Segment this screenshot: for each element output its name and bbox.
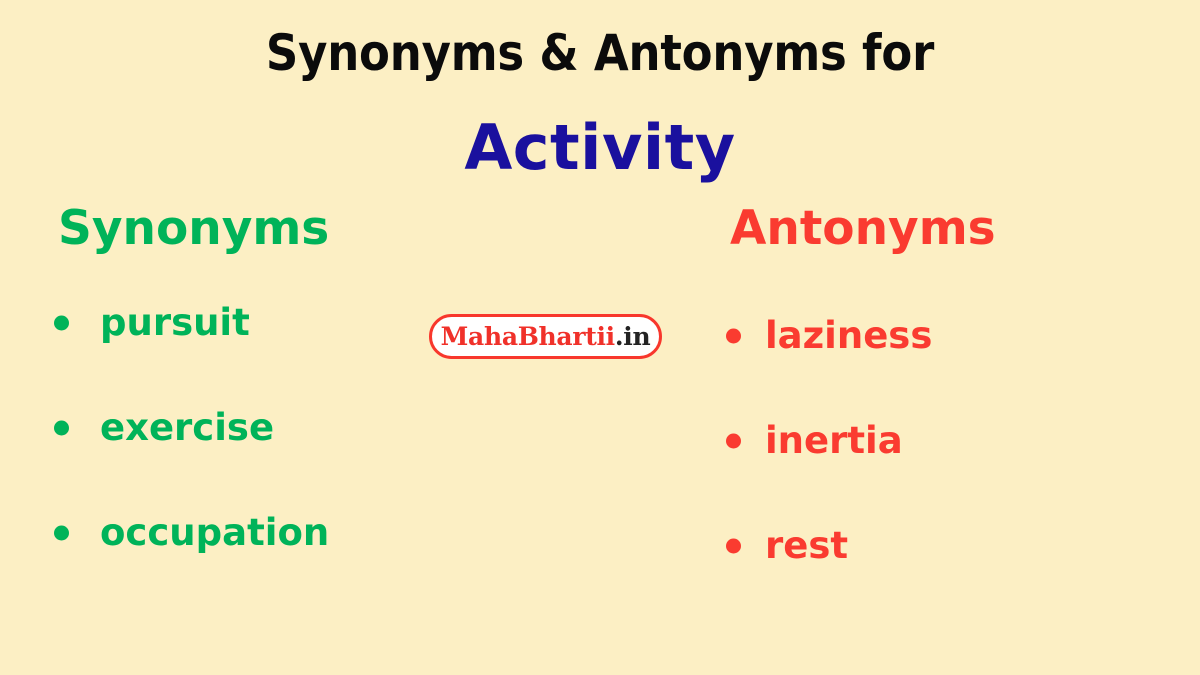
bullet-dot-icon xyxy=(726,433,741,448)
antonym-label: laziness xyxy=(765,317,932,354)
synonym-label: exercise xyxy=(100,409,274,446)
list-item: laziness xyxy=(726,305,1146,367)
list-item: exercise xyxy=(54,397,454,459)
headword-title: Activity xyxy=(0,114,1200,182)
antonym-label: inertia xyxy=(765,422,903,459)
list-item: occupation xyxy=(54,502,454,564)
synonym-label: pursuit xyxy=(100,304,250,341)
brand-wordmark: MahaBhartii.in xyxy=(441,324,651,349)
synonym-label: occupation xyxy=(100,514,329,551)
watermark-badge: MahaBhartii.in xyxy=(429,314,662,359)
list-item: pursuit xyxy=(54,292,454,354)
antonyms-heading: Antonyms xyxy=(730,203,1146,255)
brand-tld: .in xyxy=(615,322,650,351)
bullet-dot-icon xyxy=(54,315,69,330)
bullet-dot-icon xyxy=(726,328,741,343)
bullet-dot-icon xyxy=(726,538,741,553)
brand-name: MahaBhartii xyxy=(441,322,615,351)
synonyms-heading: Synonyms xyxy=(58,203,454,255)
page-title: Synonyms & Antonyms for xyxy=(0,26,1200,81)
list-item: rest xyxy=(726,515,1146,577)
synonyms-column: Synonyms pursuit exercise occupation xyxy=(54,203,454,607)
antonyms-column: Antonyms laziness inertia rest xyxy=(726,203,1146,620)
bullet-dot-icon xyxy=(54,525,69,540)
antonyms-list: laziness inertia rest xyxy=(726,305,1146,577)
list-item: inertia xyxy=(726,410,1146,472)
infographic-canvas: Synonyms & Antonyms for Activity Synonym… xyxy=(0,0,1200,675)
synonyms-list: pursuit exercise occupation xyxy=(54,292,454,564)
bullet-dot-icon xyxy=(54,420,69,435)
antonym-label: rest xyxy=(765,527,848,564)
